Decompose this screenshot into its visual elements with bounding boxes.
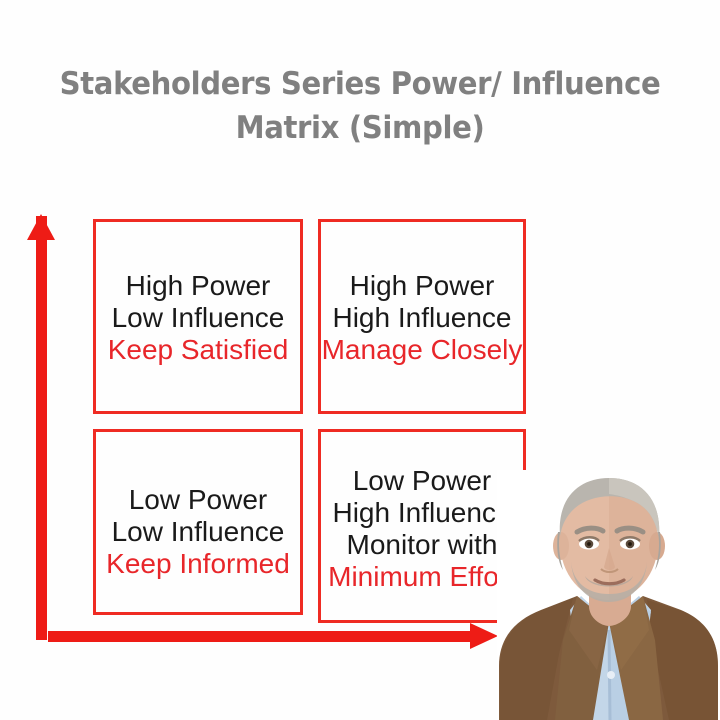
quadrant-line: High Power [126, 270, 271, 302]
quadrant-line: Low Influence [112, 302, 285, 334]
horizontal-axis-arrow [48, 631, 483, 642]
quadrant-action: Keep Informed [106, 548, 290, 580]
quadrant-line: High Power [350, 270, 495, 302]
presenter-photo [497, 470, 720, 720]
quadrant-line: Low Power [129, 484, 268, 516]
slide-canvas: Stakeholders Series Power/ Influence Mat… [0, 0, 720, 720]
quadrant-line: High Influence [332, 302, 511, 334]
quadrant-low-power-low-influence[interactable]: Low Power Low Influence Keep Informed [93, 429, 303, 615]
quadrant-line: High Influence [332, 497, 511, 529]
horizontal-arrow-head-icon [470, 623, 498, 649]
vertical-axis-arrow [36, 216, 47, 640]
quadrant-line: Monitor with [347, 529, 498, 561]
quadrant-line: Low Influence [112, 516, 285, 548]
page-title: Stakeholders Series Power/ Influence Mat… [59, 62, 661, 150]
quadrant-high-power-low-influence[interactable]: High Power Low Influence Keep Satisfied [93, 219, 303, 414]
quadrant-action: Manage Closely [322, 334, 523, 366]
quadrant-low-power-high-influence[interactable]: Low Power High Influence Monitor with Mi… [318, 429, 526, 623]
quadrant-action: Keep Satisfied [108, 334, 289, 366]
quadrant-line: Low Power [353, 465, 492, 497]
quadrant-action: Minimum Effort [328, 561, 516, 593]
quadrant-high-power-high-influence[interactable]: High Power High Influence Manage Closely [318, 219, 526, 414]
